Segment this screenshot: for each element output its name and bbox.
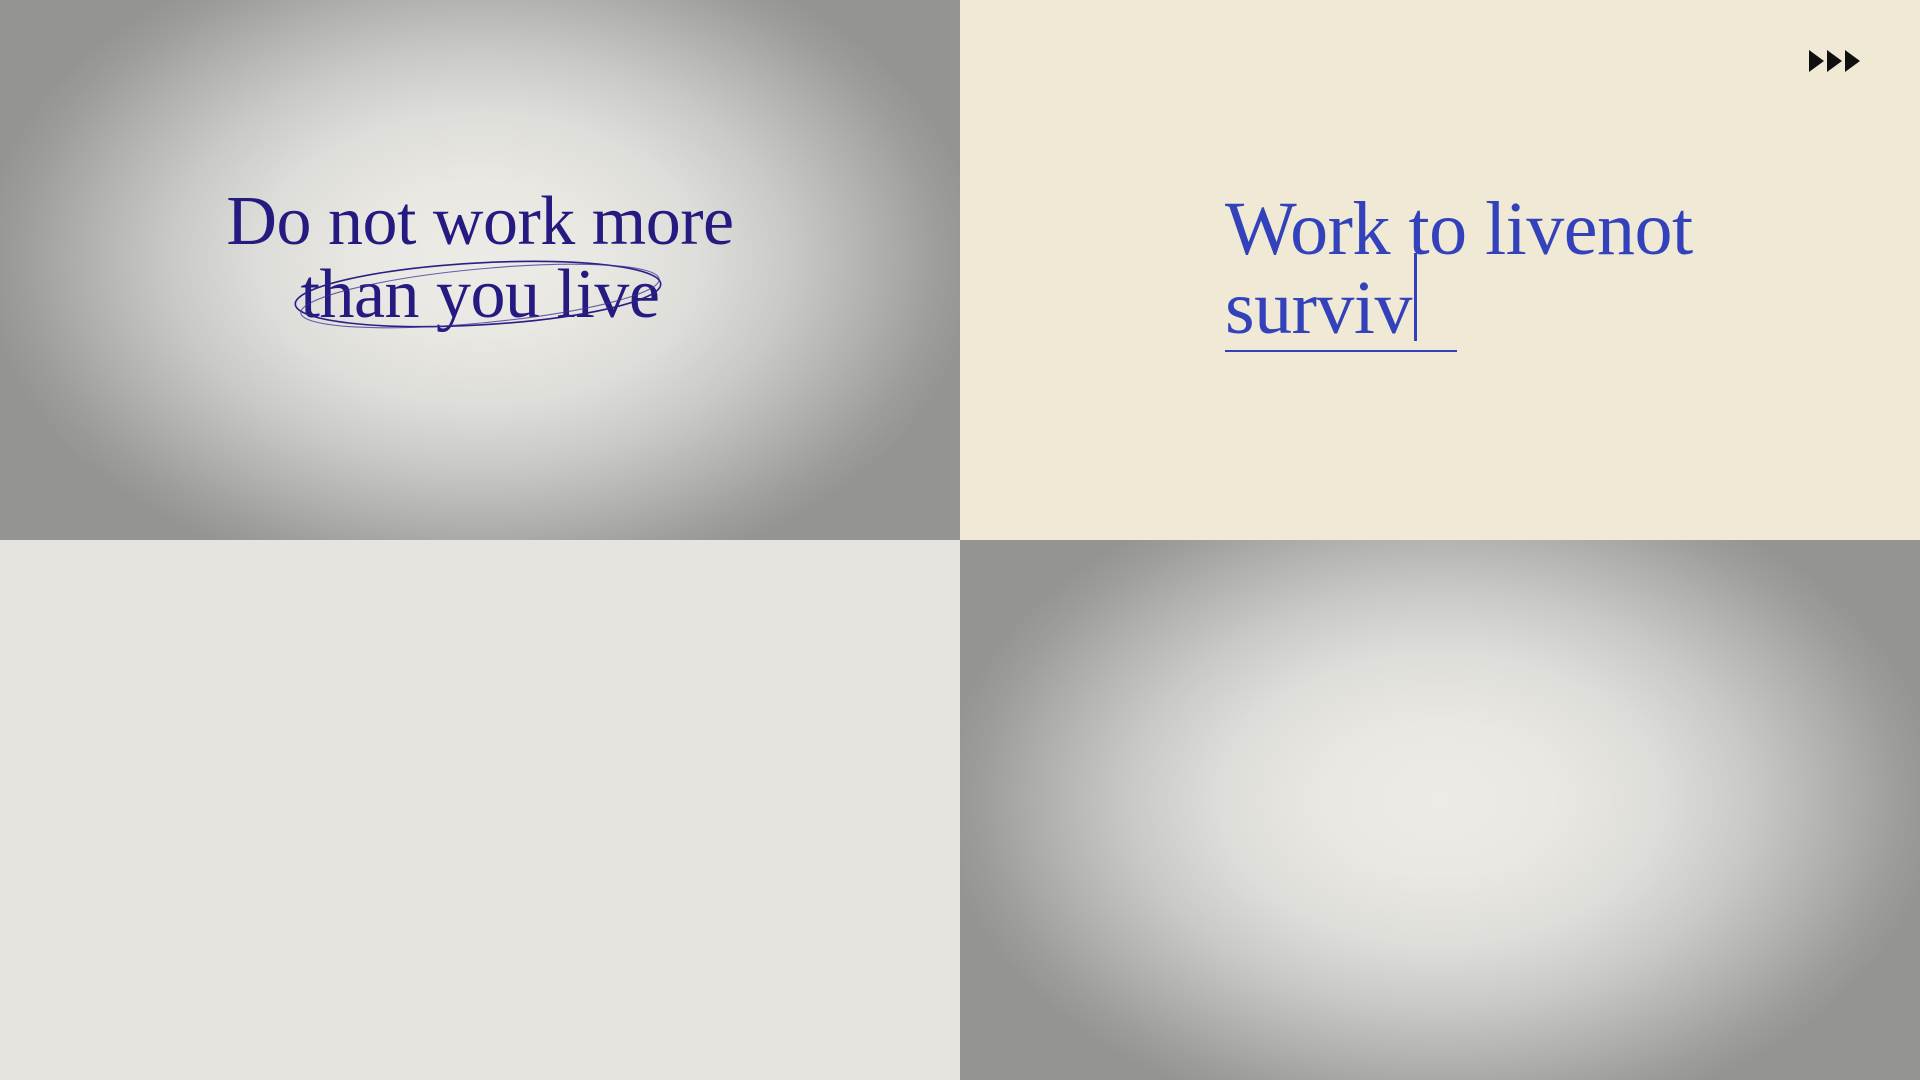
headline-do-not-work-more: Do not work more than you live	[0, 186, 960, 332]
triple-play-arrow-icon[interactable]	[1809, 50, 1860, 72]
play-arrow-icon-2	[1827, 50, 1842, 72]
play-arrow-icon-3	[1845, 50, 1860, 72]
underlined-text-wrapper: surviv	[1225, 269, 1412, 352]
text-caret	[1414, 253, 1417, 341]
headline-line-2: surviv	[1225, 266, 1412, 350]
panel-do-not-work-more: Do not work more than you live	[0, 0, 960, 540]
play-arrow-icon-1	[1809, 50, 1824, 72]
headline-line-1: Work to livenot	[1225, 190, 1865, 269]
headline-line-2-row: surviv	[1225, 269, 1865, 359]
panel-create-more: CREATE MORE	[960, 540, 1920, 1080]
headline-work-to-live[interactable]: Work to livenot surviv	[1225, 190, 1865, 359]
panel-build-your-life: build your life not burnout. create more…	[0, 540, 960, 1080]
underline-rule	[1225, 350, 1457, 352]
panel-work-to-live: Work to livenot surviv	[960, 0, 1920, 540]
four-panel-collage: Do not work more than you live Work to l…	[0, 0, 1920, 1080]
